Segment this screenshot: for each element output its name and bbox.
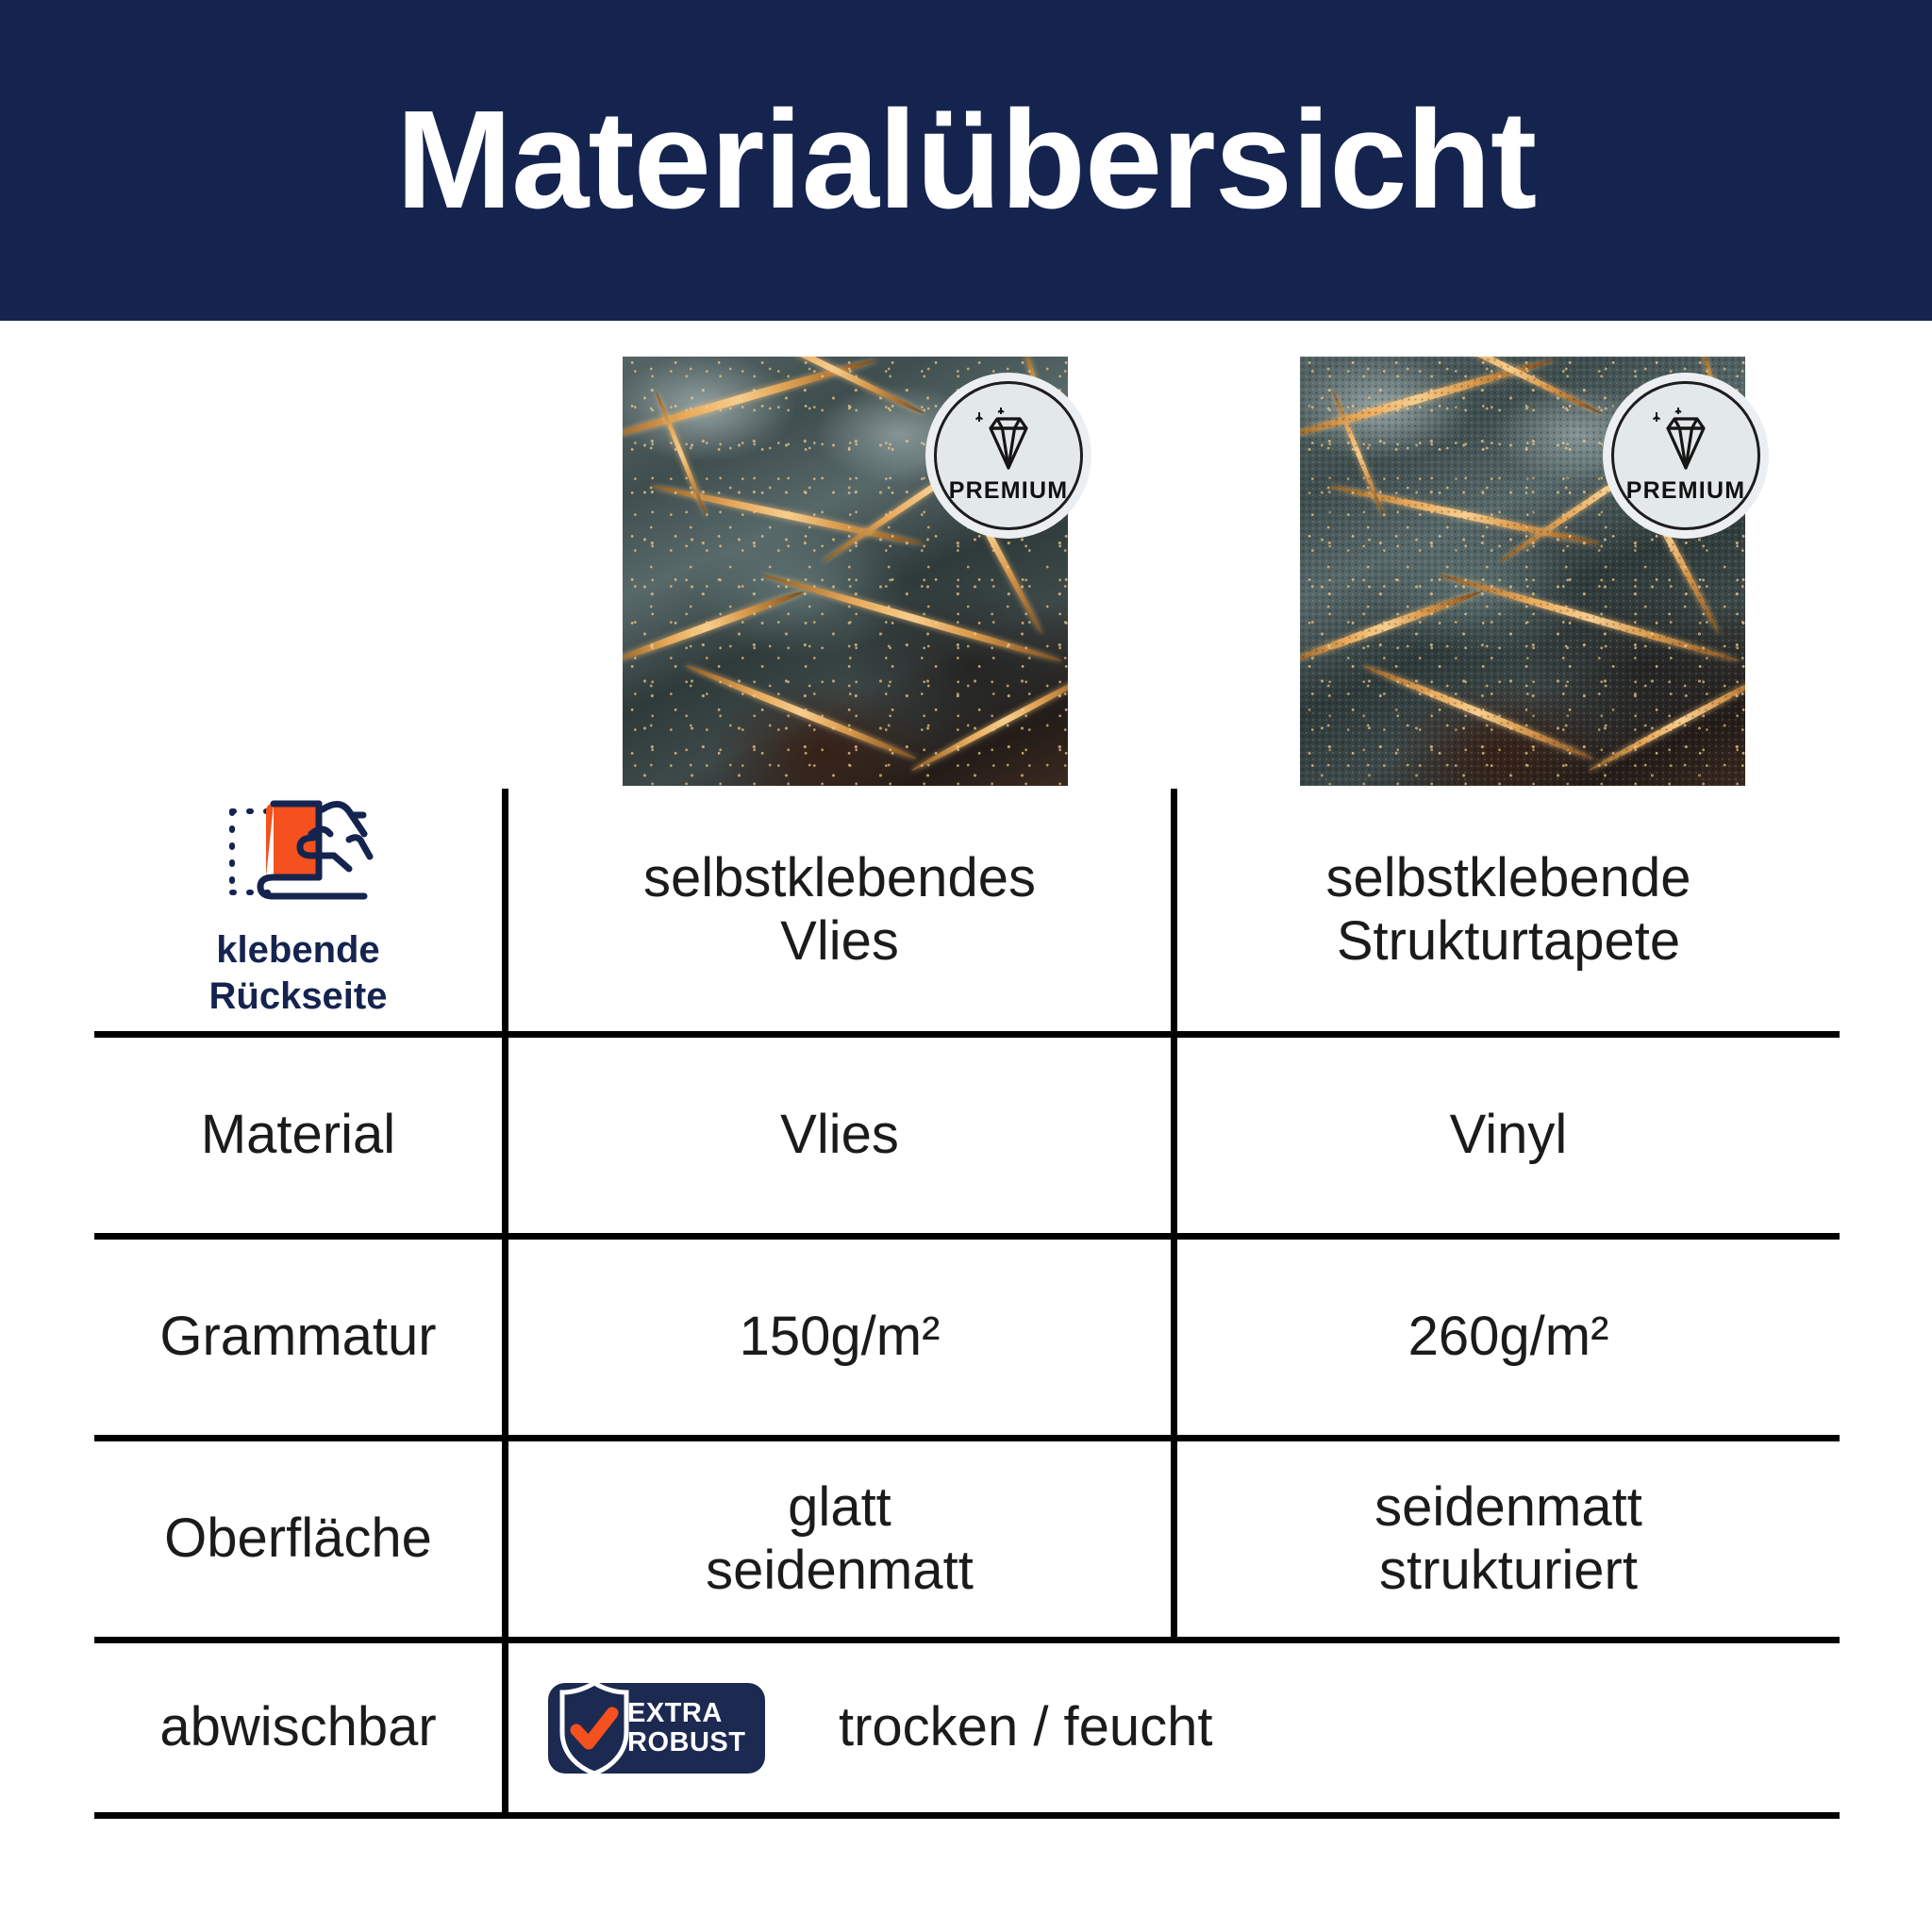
extra-robust-badge: EXTRA ROBUST	[548, 1683, 765, 1774]
row-label-material: Material	[94, 1038, 502, 1233]
oberflaeche-value-a: glatt seidenmatt	[502, 1441, 1171, 1637]
product-a-name-line1: selbstklebendes	[643, 847, 1036, 909]
premium-badge: PREMIUM	[934, 381, 1083, 530]
diamond-icon	[972, 408, 1045, 475]
product-b-name-line1: selbstklebende	[1326, 847, 1691, 909]
table-row: Grammatur 150g/m² 260g/m²	[94, 1240, 1840, 1441]
oberflaeche-value-b: seidenmatt strukturiert	[1171, 1441, 1840, 1637]
oberflaeche-a-line1: glatt	[788, 1476, 891, 1539]
extra-robust-line1: EXTRA	[627, 1699, 745, 1728]
row-label-abwischbar: abwischbar	[94, 1643, 502, 1812]
table-row: abwischbar EXTRA ROBUST trocken / feucht	[94, 1643, 1840, 1819]
sticky-back-label-line2: Rückseite	[209, 974, 388, 1020]
sticky-back-label-line1: klebende	[216, 927, 379, 974]
product-a-name-cell: selbstklebendes Vlies	[502, 789, 1171, 1031]
sticky-back-cell: klebende Rückseite	[94, 789, 502, 1031]
material-value-a: Vlies	[502, 1038, 1171, 1233]
page-title: Materialübersicht	[396, 91, 1536, 230]
extra-robust-text: EXTRA ROBUST	[627, 1699, 745, 1757]
table-row: Material Vlies Vinyl	[94, 1038, 1840, 1240]
oberflaeche-b-line2: strukturiert	[1379, 1540, 1638, 1602]
material-comparison-table: klebende Rückseite selbstklebendes Vlies…	[94, 789, 1840, 1819]
premium-badge-label: PREMIUM	[949, 477, 1068, 505]
product-b-name-cell: selbstklebende Strukturtapete	[1171, 789, 1840, 1031]
table-row: Oberfläche glatt seidenmatt seidenmatt s…	[94, 1441, 1840, 1643]
oberflaeche-b-line1: seidenmatt	[1374, 1476, 1642, 1539]
grammatur-value-b: 260g/m²	[1171, 1240, 1840, 1435]
row-label-grammatur: Grammatur	[94, 1240, 502, 1435]
grammatur-value-a: 150g/m²	[502, 1240, 1171, 1435]
material-value-b: Vinyl	[1171, 1038, 1840, 1233]
diamond-icon	[1649, 408, 1723, 475]
premium-badge-label: PREMIUM	[1626, 477, 1745, 505]
peeling-corner-hand-icon	[219, 791, 377, 921]
premium-badge: PREMIUM	[1611, 381, 1760, 530]
extra-robust-line2: ROBUST	[627, 1728, 745, 1757]
product-a-name-line2: Vlies	[780, 910, 899, 973]
shield-check-icon	[554, 1677, 635, 1792]
abwischbar-value-text: trocken / feucht	[839, 1696, 1213, 1758]
abwischbar-value-cell: EXTRA ROBUST trocken / feucht	[502, 1643, 1840, 1812]
table-row: klebende Rückseite selbstklebendes Vlies…	[94, 789, 1840, 1038]
row-label-oberflaeche: Oberfläche	[94, 1441, 502, 1637]
oberflaeche-a-line2: seidenmatt	[706, 1540, 974, 1602]
sticky-back-label-block: klebende Rückseite	[209, 792, 388, 1027]
page-header: Materialübersicht	[0, 0, 1932, 321]
product-b-name-line2: Strukturtapete	[1337, 910, 1680, 973]
